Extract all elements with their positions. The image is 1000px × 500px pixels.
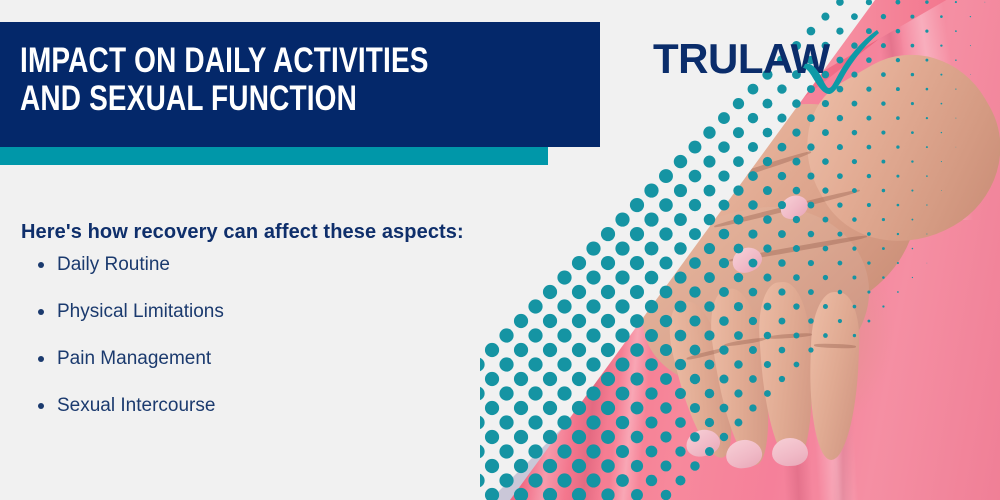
bullet-dot-icon — [38, 262, 44, 268]
teal-accent-bar — [0, 147, 548, 165]
list-item: Pain Management — [30, 344, 510, 391]
bullet-dot-icon — [38, 309, 44, 315]
aspects-list: Daily Routine Physical Limitations Pain … — [30, 250, 510, 438]
checkmark-icon — [801, 26, 881, 96]
trulaw-logo[interactable]: TRULAW — [653, 32, 873, 94]
page-title: IMPACT ON DAILY ACTIVITIES AND SEXUAL FU… — [20, 42, 468, 118]
slide-canvas: IMPACT ON DAILY ACTIVITIES AND SEXUAL FU… — [0, 0, 1000, 500]
subheading: Here's how recovery can affect these asp… — [21, 221, 464, 244]
list-item-label: Daily Routine — [57, 254, 170, 275]
fingernail-3 — [772, 437, 809, 466]
list-item-label: Pain Management — [57, 348, 211, 369]
title-banner: IMPACT ON DAILY ACTIVITIES AND SEXUAL FU… — [0, 22, 600, 147]
list-item: Sexual Intercourse — [30, 391, 510, 438]
bullet-dot-icon — [38, 356, 44, 362]
list-item: Daily Routine — [30, 250, 510, 297]
bullet-dot-icon — [38, 403, 44, 409]
list-item: Physical Limitations — [30, 297, 510, 344]
list-item-label: Physical Limitations — [57, 301, 224, 322]
list-item-label: Sexual Intercourse — [57, 395, 215, 416]
